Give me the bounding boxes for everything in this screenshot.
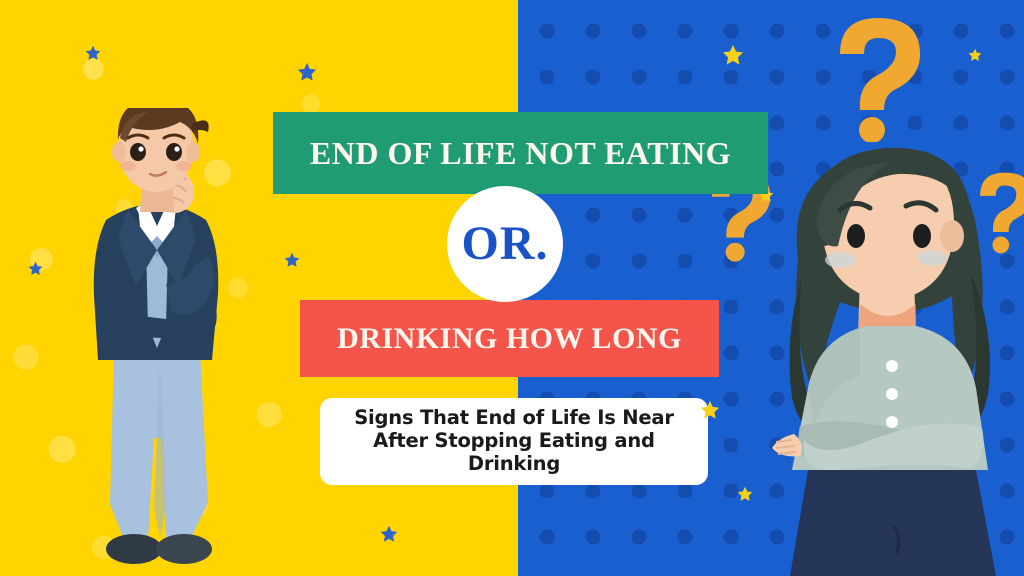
blue-star-mid-center xyxy=(284,252,300,268)
headline-banner-red: DRINKING HOW LONG xyxy=(300,300,719,377)
yellow-star-right-qmark xyxy=(968,48,982,62)
caption-text: Signs That End of Life Is Near After Sto… xyxy=(328,407,700,475)
question-mark-top-right xyxy=(832,16,928,142)
headline-banner-green: END OF LIFE NOT EATING xyxy=(273,112,768,194)
or-badge: OR. xyxy=(447,186,563,302)
poster-canvas: END OF LIFE NOT EATING DRINKING HOW LONG… xyxy=(0,0,1024,576)
blue-star-upper-left xyxy=(85,45,101,61)
blue-star-mid-left xyxy=(28,261,43,276)
caption-box: Signs That End of Life Is Near After Sto… xyxy=(320,398,708,485)
blue-star-bottom xyxy=(380,525,398,543)
or-badge-text: OR. xyxy=(462,216,549,271)
blue-star-upper-right xyxy=(297,62,317,82)
yellow-star-bottom-right xyxy=(737,486,753,502)
question-mark-far-right xyxy=(975,170,1024,254)
yellow-star-caption-corner xyxy=(700,400,720,420)
thinking-man-illustration xyxy=(62,108,252,576)
yellow-star-top xyxy=(722,44,744,66)
headline-green-text: END OF LIFE NOT EATING xyxy=(310,135,731,172)
headline-red-text: DRINKING HOW LONG xyxy=(337,322,682,356)
